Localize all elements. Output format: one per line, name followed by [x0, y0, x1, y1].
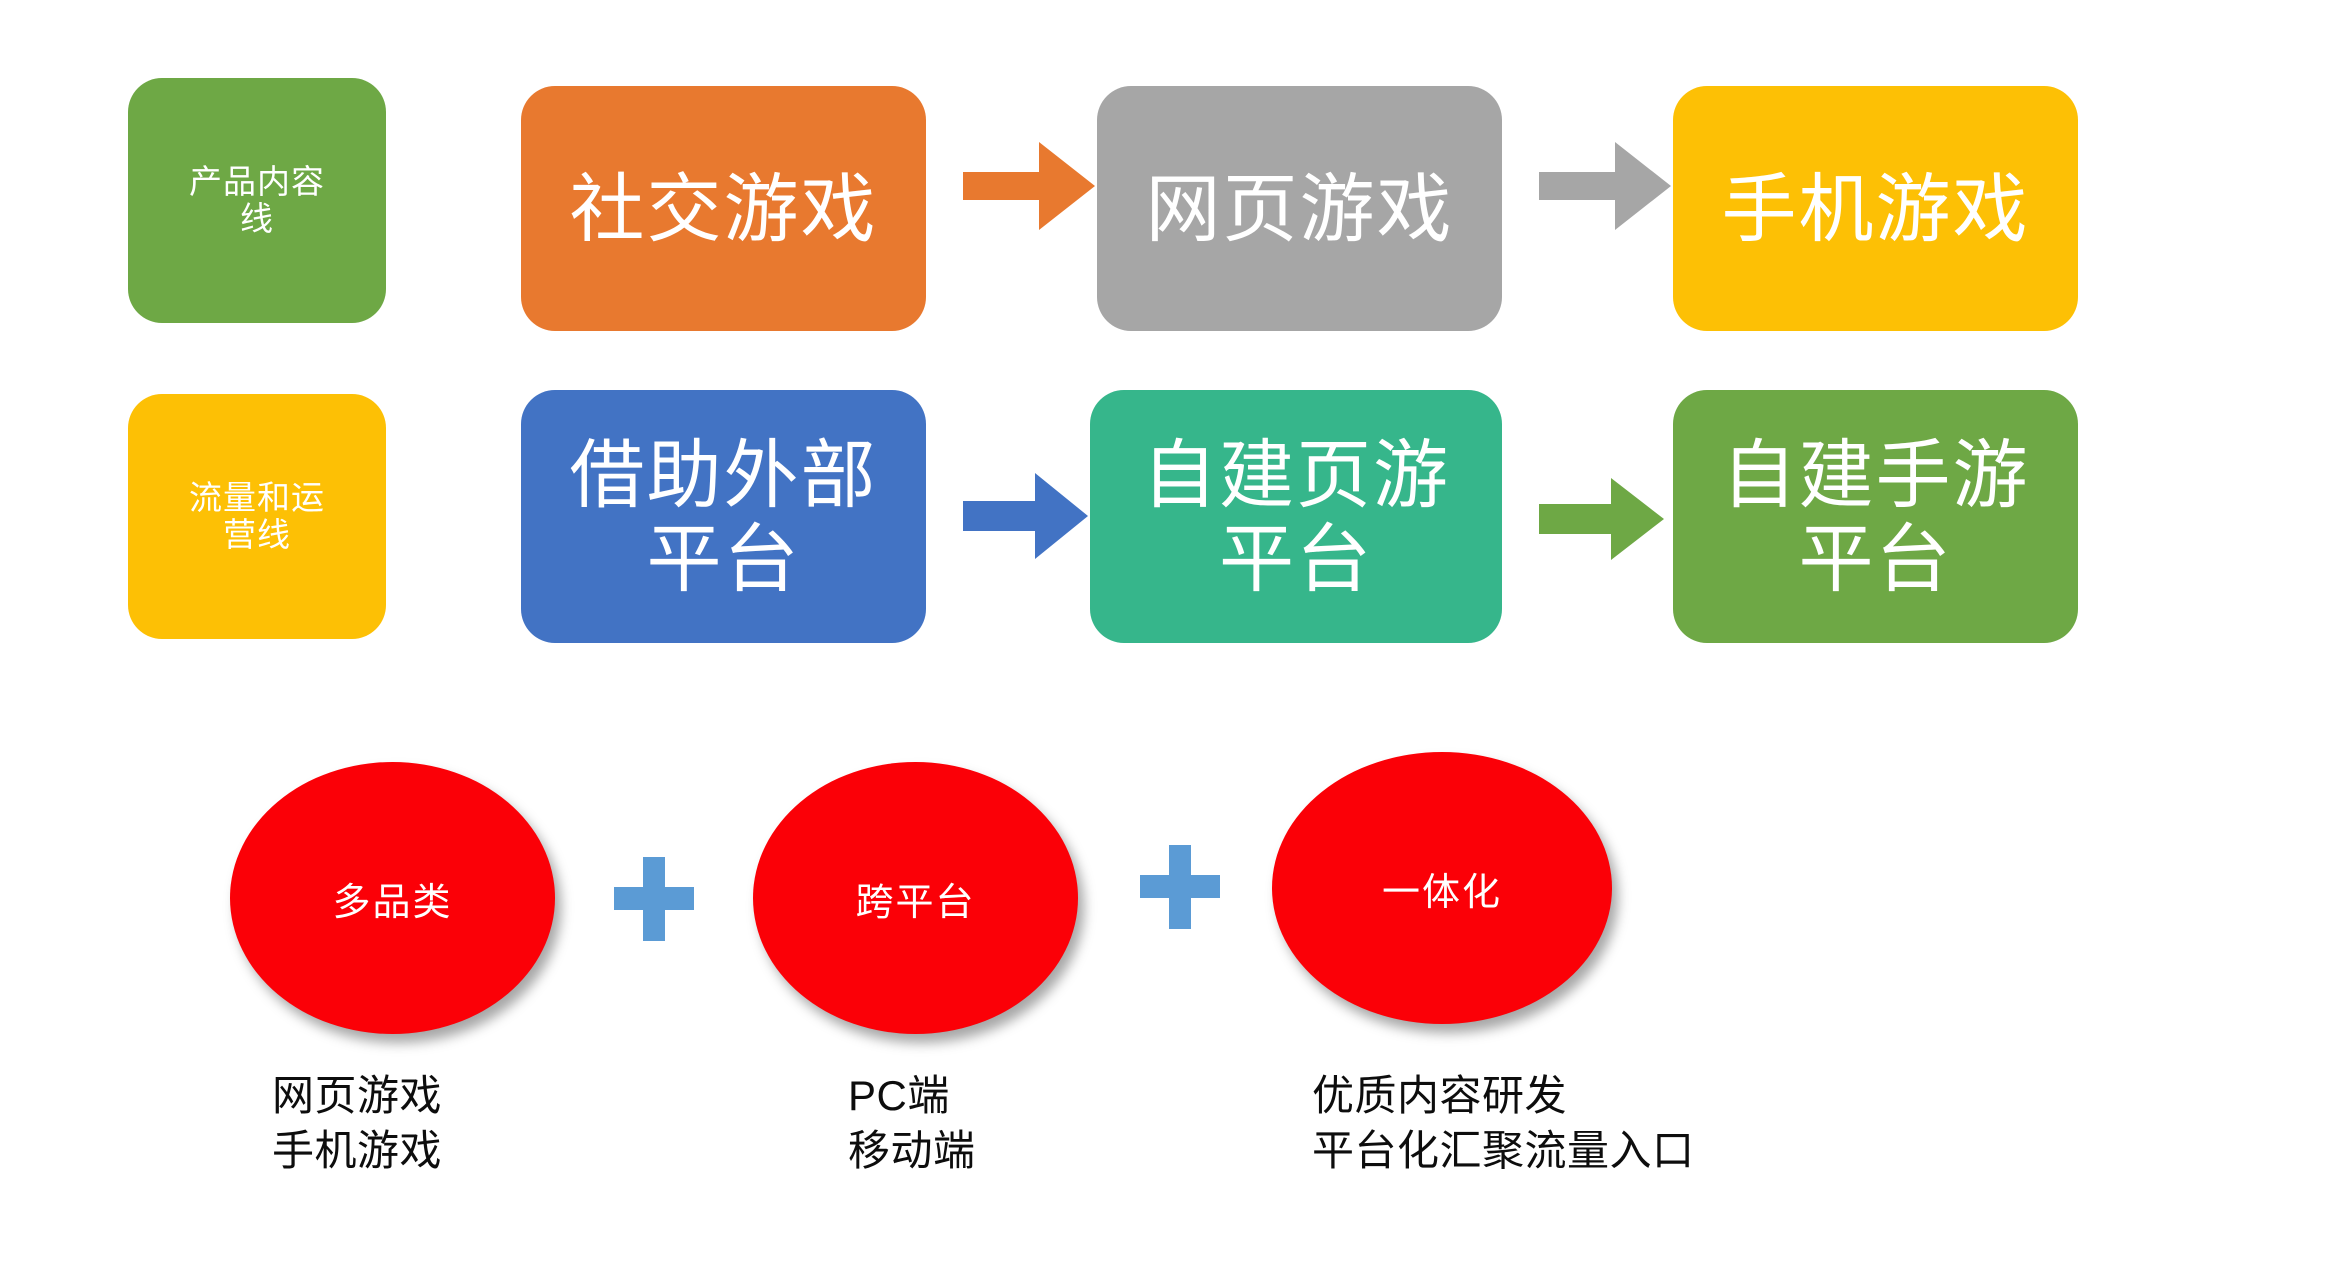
flow-arrow-3 — [963, 473, 1088, 559]
plus-icon — [1140, 845, 1220, 929]
stage-box-mobile-game[interactable]: 手机游戏 — [1673, 86, 2078, 331]
stage-box-own-web-platform[interactable]: 自建页游 平台 — [1090, 390, 1502, 643]
row-label-traffic-operation-line: 流量和运 营线 — [128, 394, 386, 639]
plus-icon — [614, 857, 694, 941]
pillar-connector-1 — [614, 857, 694, 941]
row-label-text: 产品内容 线 — [128, 164, 386, 238]
pillar-circle-label: 多品类 — [332, 871, 452, 926]
row-label-product-content-line: 产品内容 线 — [128, 78, 386, 323]
pillar-circle-multi-category[interactable]: 多品类 — [230, 762, 555, 1034]
stage-box-label: 自建手游 平台 — [1673, 433, 2078, 601]
stage-box-label: 社交游戏 — [521, 167, 926, 251]
stage-box-label: 借助外部 平台 — [521, 433, 926, 601]
stage-box-social-game[interactable]: 社交游戏 — [521, 86, 926, 331]
flow-arrow-4 — [1539, 478, 1664, 560]
arrow-right-icon — [963, 473, 1088, 559]
pillar-circle-integration[interactable]: 一体化 — [1272, 752, 1612, 1024]
arrow-right-icon — [963, 142, 1095, 230]
flow-arrow-2 — [1539, 142, 1671, 230]
pillar-circle-label: 跨平台 — [855, 871, 975, 926]
stage-box-own-mobile-platform[interactable]: 自建手游 平台 — [1673, 390, 2078, 643]
arrow-right-icon — [1539, 142, 1671, 230]
stage-box-web-game[interactable]: 网页游戏 — [1097, 86, 1502, 331]
pillar-caption-integration: 优质内容研发 平台化汇聚流量入口 — [1312, 1068, 1695, 1179]
stage-box-external-platform[interactable]: 借助外部 平台 — [521, 390, 926, 643]
stage-box-label: 网页游戏 — [1097, 167, 1502, 251]
stage-box-label: 自建页游 平台 — [1090, 433, 1502, 601]
pillar-connector-2 — [1140, 845, 1220, 929]
arrow-right-icon — [1539, 478, 1664, 560]
pillar-caption-cross-platform: PC端 移动端 — [848, 1068, 976, 1179]
flow-arrow-1 — [963, 142, 1095, 230]
pillar-caption-multi-category: 网页游戏 手机游戏 — [272, 1068, 442, 1179]
stage-box-label: 手机游戏 — [1673, 167, 2078, 251]
pillar-circle-cross-platform[interactable]: 跨平台 — [753, 762, 1078, 1034]
row-label-text: 流量和运 营线 — [128, 480, 386, 554]
diagram-canvas: 产品内容 线 社交游戏 网页游戏 手机游戏 流量和运 营线 借助外部 平台 自建… — [0, 0, 2343, 1268]
pillar-circle-label: 一体化 — [1382, 861, 1502, 916]
